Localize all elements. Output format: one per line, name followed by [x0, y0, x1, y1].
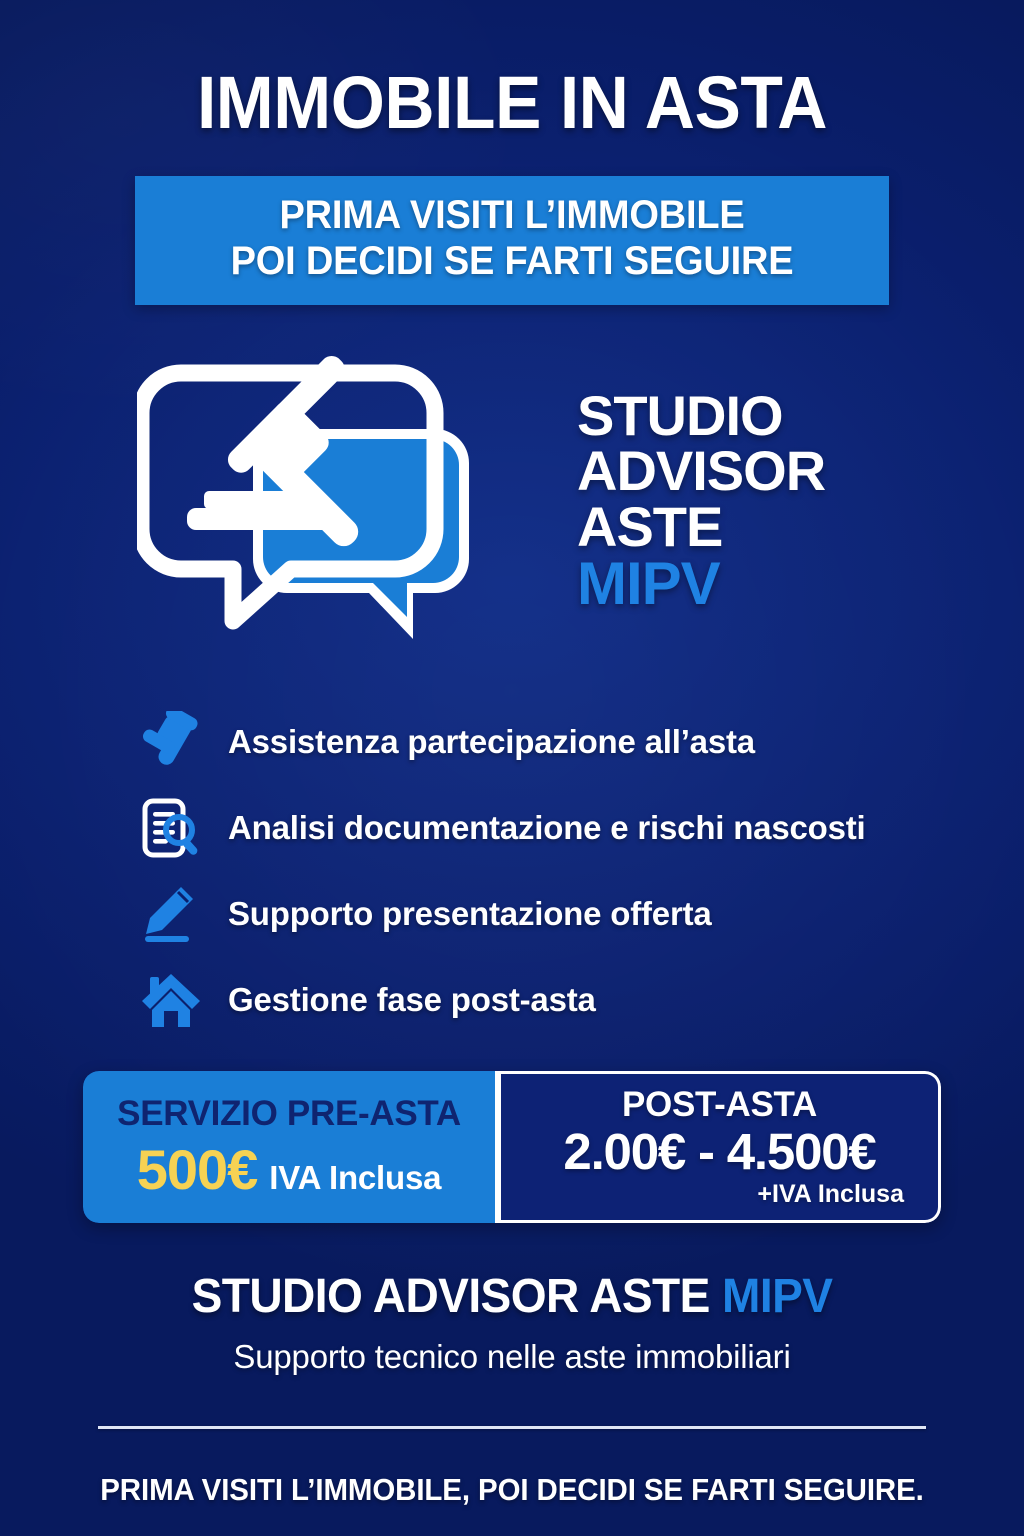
page-title: IMMOBILE IN ASTA — [31, 0, 994, 140]
list-item-label: Supporto presentazione offerta — [228, 895, 712, 933]
gavel-icon — [140, 711, 202, 773]
logo-wordmark: STUDIO ADVISOR ASTE MIPV — [577, 388, 887, 614]
pricing-post-asta-note: +IVA Inclusa — [757, 1180, 904, 1209]
brand-tagline: Supporto tecnico nelle aste immobiliari — [0, 1338, 1024, 1376]
subtitle-line-1: PRIMA VISITI L’IMMOBILE — [163, 192, 860, 238]
feature-list: Assistenza partecipazione all’asta — [0, 699, 1024, 1043]
brand-name-accent: MIPV — [722, 1270, 832, 1323]
list-item: Analisi documentazione e rischi nascosti — [140, 785, 1024, 871]
subtitle-banner: PRIMA VISITI L’IMMOBILE POI DECIDI SE FA… — [135, 176, 889, 305]
pen-icon — [140, 883, 202, 945]
list-item: Assistenza partecipazione all’asta — [140, 699, 1024, 785]
logo-line-1: STUDIO — [577, 388, 887, 443]
speech-bubble-gavel-logo-icon — [137, 351, 537, 651]
pricing-post-asta-amount: 2.00€ - 4.500€ — [563, 1126, 875, 1178]
logo-line-3: ASTE — [577, 499, 887, 554]
pricing-pre-asta-note: IVA Inclusa — [269, 1159, 441, 1197]
logo-row: STUDIO ADVISOR ASTE MIPV — [0, 351, 1024, 651]
pricing-panel: SERVIZIO PRE-ASTA 500€ IVA Inclusa POST-… — [83, 1071, 941, 1223]
pricing-pre-asta-amount-row: 500€ IVA Inclusa — [137, 1137, 442, 1202]
auction-service-poster: IMMOBILE IN ASTA PRIMA VISITI L’IMMOBILE… — [0, 0, 1024, 1536]
list-item: Gestione fase post-asta — [140, 957, 1024, 1043]
brand-name: STUDIO ADVISOR ASTE MIPV — [20, 1269, 1003, 1324]
pricing-post-asta-title: POST-ASTA — [622, 1085, 817, 1125]
pricing-pre-asta-amount: 500€ — [137, 1137, 258, 1202]
pricing-post-asta: POST-ASTA 2.00€ - 4.500€ +IVA Inclusa — [501, 1071, 941, 1223]
list-item-label: Assistenza partecipazione all’asta — [228, 723, 755, 761]
pricing-pre-asta-title: SERVIZIO PRE-ASTA — [117, 1094, 461, 1134]
house-icon — [140, 969, 202, 1031]
pricing-pre-asta: SERVIZIO PRE-ASTA 500€ IVA Inclusa — [83, 1071, 495, 1223]
logo-line-4: MIPV — [577, 554, 887, 613]
document-search-icon — [140, 797, 202, 859]
divider — [98, 1426, 926, 1429]
list-item-label: Gestione fase post-asta — [228, 981, 596, 1019]
subtitle-banner-wrap: PRIMA VISITI L’IMMOBILE POI DECIDI SE FA… — [0, 176, 1024, 305]
brand-name-main: STUDIO ADVISOR ASTE — [192, 1270, 710, 1323]
list-item-label: Analisi documentazione e rischi nascosti — [228, 809, 866, 847]
subtitle-line-2: POI DECIDI SE FARTI SEGUIRE — [163, 238, 860, 284]
bottom-tagline: PRIMA VISITI L’IMMOBILE, POI DECIDI SE F… — [26, 1472, 999, 1508]
logo-line-2: ADVISOR — [577, 443, 887, 498]
list-item: Supporto presentazione offerta — [140, 871, 1024, 957]
brand-footer: STUDIO ADVISOR ASTE MIPV Supporto tecnic… — [0, 1269, 1024, 1376]
